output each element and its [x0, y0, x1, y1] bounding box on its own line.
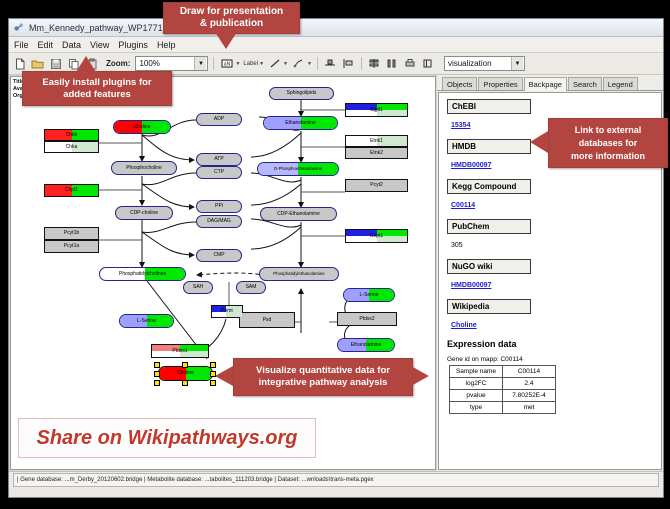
node-label: Phosphocholine: [126, 166, 162, 171]
gene-id-line: Gene id on mapp: C00114: [447, 356, 661, 363]
node-label: Sphingolipids: [287, 91, 317, 96]
node-label: SAM: [246, 285, 257, 290]
node-label: Ptdss1: [172, 349, 187, 354]
exp-key: log2FC: [450, 378, 503, 390]
db-link-hmdb[interactable]: HMDB00097: [451, 162, 491, 169]
selection-handle[interactable]: [182, 362, 188, 368]
chevron-down-icon[interactable]: ▼: [511, 57, 523, 70]
selection-handle[interactable]: [154, 371, 160, 377]
db-title-wikipedia: Wikipedia: [447, 299, 531, 314]
node-ctp[interactable]: CTP: [196, 166, 242, 179]
status-bar: | Gene database: ...m_Derby_20120602.bri…: [9, 471, 663, 488]
watermark-text: Share on Wikipathways.org: [37, 427, 298, 450]
toolbar-separator: [361, 57, 362, 70]
selection-handle[interactable]: [154, 380, 160, 386]
exp-key: type: [450, 402, 503, 414]
title-bar: Mm_Kennedy_pathway_WP1771_45176.gpml: [9, 19, 663, 37]
node-label: O-Phosphoethanolamine: [274, 167, 323, 171]
exp-value: 7.80252E-4: [503, 390, 556, 402]
callout-line-3: more information: [571, 150, 645, 163]
app-icon: [13, 22, 24, 33]
selection-handle[interactable]: [182, 380, 188, 386]
node-sam[interactable]: SAM: [236, 281, 266, 294]
tab-backpage[interactable]: Backpage: [524, 77, 567, 91]
exp-key: Sample name: [450, 366, 503, 378]
node-label: Ethanolamine: [285, 121, 316, 126]
node-cmp[interactable]: CMP: [196, 249, 242, 262]
table-row: log2FC 2.4: [450, 378, 556, 390]
exp-value: met: [503, 402, 556, 414]
line-tool[interactable]: ▼: [267, 56, 288, 71]
node-label: Cept1: [370, 234, 383, 239]
node-sphingolipids[interactable]: Sphingolipids: [269, 87, 334, 100]
align-left-icon[interactable]: [341, 56, 356, 71]
node-chpt1[interactable]: Chpt1: [44, 184, 99, 197]
callout-line-1: Draw for presentation: [180, 6, 283, 18]
open-icon[interactable]: [30, 56, 45, 71]
node-cept1[interactable]: Cept1: [345, 229, 408, 243]
node-label: ATP: [214, 157, 223, 162]
db-link-kegg[interactable]: C00114: [451, 202, 475, 209]
callout-link-external-databases: Link to external databases for more info…: [548, 118, 668, 168]
node-ethanolamine-right[interactable]: Ethanolamine: [337, 338, 395, 352]
node-label: CDP-Ethanolamine: [277, 212, 320, 217]
expression-data-table: Sample name C00114 log2FC 2.4 pvalue 7.8…: [449, 365, 556, 414]
table-row: Sample name C00114: [450, 366, 556, 378]
selection-handle[interactable]: [154, 362, 160, 368]
db-title-nugo: NuGO wiki: [447, 259, 531, 274]
visualization-value: visualization: [448, 59, 492, 68]
node-o-phosphoethanolamine[interactable]: O-Phosphoethanolamine: [257, 162, 339, 176]
db-title-kegg: Kegg Compound: [447, 179, 531, 194]
node-label: Pcyt1b: [64, 231, 79, 236]
tab-properties[interactable]: Properties: [478, 77, 522, 90]
exp-key: pvalue: [450, 390, 503, 402]
db-link-nugo[interactable]: HMDB00097: [451, 282, 491, 289]
exp-value: 2.4: [503, 378, 556, 390]
node-adp[interactable]: ADP: [196, 113, 242, 126]
label-tool[interactable]: Label ▼: [243, 61, 264, 67]
node-pcyt1a[interactable]: Pcyt1a: [44, 240, 99, 253]
table-row: type met: [450, 402, 556, 414]
node-label: Pcyt1a: [64, 244, 79, 249]
node-label: CTP: [214, 170, 224, 175]
node-label: CMP: [213, 253, 224, 258]
callout-arrow-right-icon: [411, 366, 429, 386]
callout-arrow-left-icon: [215, 366, 233, 386]
node-pcyt2[interactable]: Pcyt2: [345, 179, 408, 192]
node-label: PPi: [215, 204, 223, 209]
anchor-icon[interactable]: [291, 56, 306, 71]
node-etnk2[interactable]: Etnk2: [345, 147, 408, 159]
db-block-wikipedia: Wikipedia Choline: [447, 299, 661, 332]
datanode-icon[interactable]: aN: [219, 56, 234, 71]
status-text: | Gene database: ...m_Derby_20120602.bri…: [13, 473, 659, 487]
chevron-down-icon[interactable]: ▼: [283, 61, 288, 67]
callout-line-1: Visualize quantitative data for: [256, 365, 390, 377]
save-icon[interactable]: [48, 56, 63, 71]
node-chkb[interactable]: Chkb: [44, 129, 99, 141]
zoom-value: 100%: [139, 59, 159, 68]
zoom-combo[interactable]: 100% ▼: [135, 56, 208, 71]
label-tool-text: Label: [243, 61, 258, 67]
node-label: L-Serine: [360, 293, 379, 298]
node-label: Chka: [66, 145, 78, 150]
order-icon[interactable]: [367, 56, 382, 71]
side-panel-tabs: Objects Properties Backpage Search Legen…: [437, 75, 663, 91]
node-label: Ethanolamine: [351, 343, 382, 348]
callout-easily-install-plugins: Easily install plugins for added feature…: [22, 71, 172, 106]
distribute-icon[interactable]: [385, 56, 400, 71]
node-label: Psd: [263, 318, 272, 323]
db-block-pubchem: PubChem 305: [447, 219, 661, 252]
db-value-pubchem: 305: [451, 242, 463, 249]
db-title-chebi: ChEBI: [447, 99, 531, 114]
node-phosphatidylcholines[interactable]: Phosphatidylcholines: [99, 267, 186, 281]
node-label: CDP-choline: [130, 211, 158, 216]
pathway-canvas[interactable]: Title: Availa Organi: [10, 76, 436, 470]
node-dag-mag[interactable]: DAG/MAG: [196, 215, 242, 228]
callout-line-2: databases for: [579, 137, 638, 150]
db-block-kegg: Kegg Compound C00114: [447, 179, 661, 212]
node-label: SAH: [193, 285, 203, 290]
chevron-down-icon[interactable]: ▼: [194, 57, 206, 70]
node-pcyt1b[interactable]: Pcyt1b: [44, 227, 99, 240]
node-label: Phosphatidylethanolamine: [273, 272, 325, 276]
node-label: Sgpl1: [370, 108, 383, 113]
node-label: ADP: [214, 117, 224, 122]
callout-line-2: added features: [63, 89, 131, 101]
anchor-tool[interactable]: ▼: [291, 56, 312, 71]
tab-search[interactable]: Search: [568, 77, 602, 90]
callout-line-1: Link to external: [575, 124, 642, 137]
node-label: Choline: [134, 125, 151, 130]
callout-line-1: Easily install plugins for: [42, 77, 151, 89]
node-l-serine-left[interactable]: L-Serine: [119, 314, 174, 328]
table-row: pvalue 7.80252E-4: [450, 390, 556, 402]
chevron-down-icon[interactable]: ▼: [307, 61, 312, 67]
print-icon[interactable]: [403, 56, 418, 71]
node-psd[interactable]: Psd: [239, 312, 295, 328]
node-l-serine-right[interactable]: L-Serine: [343, 288, 395, 302]
node-ptdss2[interactable]: Ptdss2: [337, 312, 397, 326]
node-label: Pemt: [221, 309, 233, 314]
chevron-down-icon[interactable]: ▼: [235, 61, 240, 67]
menu-item-data[interactable]: Data: [62, 40, 81, 50]
menu-item-plugins[interactable]: Plugins: [118, 40, 148, 50]
menu-item-edit[interactable]: Edit: [38, 40, 54, 50]
tab-legend[interactable]: Legend: [603, 77, 638, 90]
node-phosphocholine[interactable]: Phosphocholine: [111, 161, 177, 175]
datanode-tool[interactable]: aN ▼: [219, 56, 240, 71]
node-label: Chkb: [66, 133, 78, 138]
node-chka[interactable]: Chka: [44, 141, 99, 153]
node-label: DAG/MAG: [207, 219, 231, 224]
new-icon[interactable]: [12, 56, 27, 71]
db-title-pubchem: PubChem: [447, 219, 531, 234]
layout-icon[interactable]: [421, 56, 436, 71]
node-label: Etnk2: [370, 151, 383, 156]
db-link-chebi[interactable]: 15354: [451, 122, 470, 129]
node-ppi[interactable]: PPi: [196, 200, 242, 213]
callout-arrow-up-icon: [76, 56, 96, 72]
node-label: Phosphatidylcholines: [119, 272, 166, 277]
svg-text:aN: aN: [224, 62, 231, 68]
node-cdp-choline[interactable]: CDP-choline: [115, 206, 173, 220]
callout-draw-for-publication: Draw for presentation & publication: [163, 2, 300, 34]
db-title-hmdb: HMDB: [447, 139, 531, 154]
node-sgpl1[interactable]: Sgpl1: [345, 103, 408, 117]
callout-visualize-quantitative-data: Visualize quantitative data for integrat…: [233, 358, 413, 396]
db-link-wikipedia[interactable]: Choline: [451, 322, 477, 329]
line-icon[interactable]: [267, 56, 282, 71]
share-watermark: Share on Wikipathways.org: [18, 418, 316, 458]
tab-objects[interactable]: Objects: [442, 77, 477, 90]
node-pemt[interactable]: Pemt: [211, 305, 243, 318]
node-atp[interactable]: ATP: [196, 153, 242, 166]
align-icon[interactable]: [323, 56, 338, 71]
node-label: Ptdss2: [359, 317, 374, 322]
menu-bar: File Edit Data View Plugins Help: [9, 37, 663, 53]
node-label: Choline: [177, 371, 194, 376]
node-etnk1[interactable]: Etnk1: [345, 135, 408, 147]
callout-arrow-down-icon: [215, 32, 237, 49]
expression-data-heading: Expression data: [447, 339, 661, 349]
callout-line-2: integrative pathway analysis: [259, 377, 388, 389]
exp-value: C00114: [503, 366, 556, 378]
menu-item-file[interactable]: File: [14, 40, 29, 50]
node-ptdss1[interactable]: Ptdss1: [151, 344, 209, 358]
db-block-nugo: NuGO wiki HMDB00097: [447, 259, 661, 292]
node-choline-top[interactable]: Choline: [113, 120, 171, 134]
node-label: Etnk1: [370, 139, 383, 144]
callout-line-2: & publication: [200, 18, 263, 30]
node-label: Pcyt2: [370, 183, 383, 188]
visualization-combo[interactable]: visualization ▼: [444, 56, 525, 71]
node-sah[interactable]: SAH: [183, 281, 213, 294]
node-choline-selected[interactable]: Choline: [158, 366, 213, 381]
node-ethanolamine-top[interactable]: Ethanolamine: [263, 116, 338, 130]
node-phosphatidylethanolamine[interactable]: Phosphatidylethanolamine: [259, 267, 339, 281]
menu-item-help[interactable]: Help: [157, 40, 176, 50]
toolbar-separator: [317, 57, 318, 70]
toolbar-separator: [213, 57, 214, 70]
zoom-label: Zoom:: [106, 59, 130, 68]
node-label: Chpt1: [65, 188, 78, 193]
callout-arrow-left-icon: [530, 131, 548, 153]
node-label: L-Serine: [137, 319, 156, 324]
menu-item-view[interactable]: View: [90, 40, 109, 50]
chevron-down-icon[interactable]: ▼: [259, 61, 264, 67]
node-cdp-ethanolamine[interactable]: CDP-Ethanolamine: [260, 207, 337, 221]
